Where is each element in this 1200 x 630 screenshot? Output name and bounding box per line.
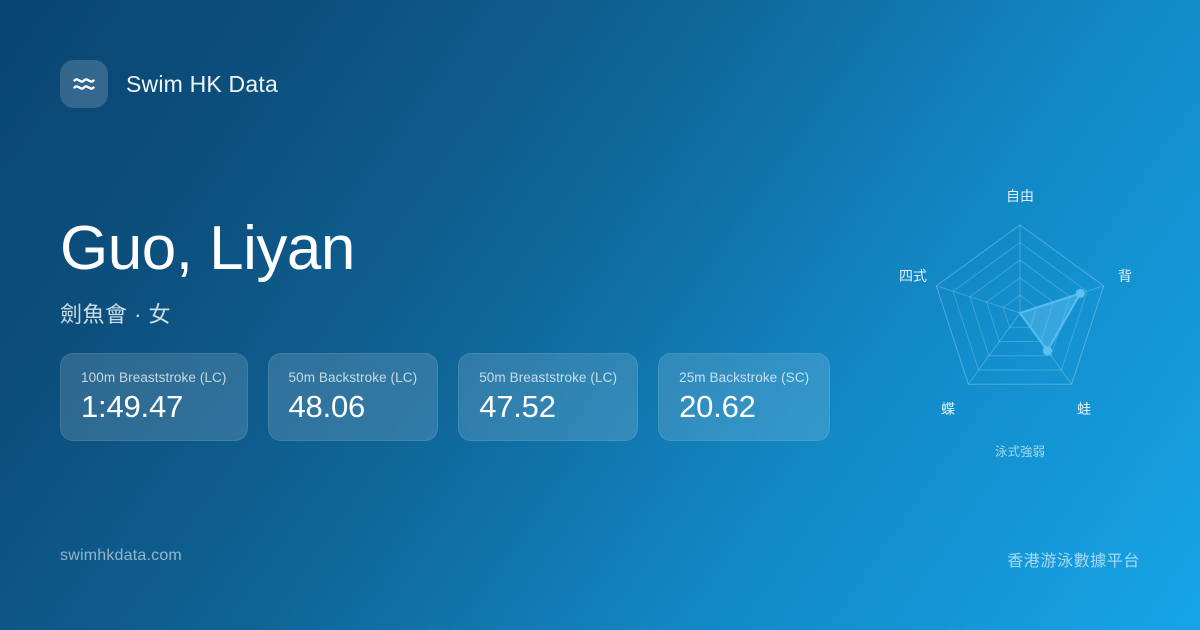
radar-spoke [936, 286, 1020, 313]
stat-card-list: 100m Breaststroke (LC) 1:49.47 50m Backs… [60, 353, 830, 441]
page-title: Guo, Liyan [60, 216, 355, 281]
radar-label-im: 四式 [899, 268, 927, 284]
radar-chart: 自由 背 蛙 蝶 四式 泳式強弱 [880, 170, 1160, 470]
radar-label-breast: 蛙 [1077, 401, 1091, 417]
stat-card-value: 1:49.47 [81, 390, 227, 423]
radar-caption: 泳式強弱 [995, 445, 1045, 459]
stat-card[interactable]: 50m Backstroke (LC) 48.06 [268, 353, 439, 441]
brand-header[interactable]: Swim HK Data [60, 60, 278, 108]
radar-label-back: 背 [1118, 268, 1132, 284]
footer-site-url[interactable]: swimhkdata.com [60, 547, 182, 565]
radar-label-free: 自由 [1006, 188, 1034, 204]
brand-name: Swim HK Data [126, 71, 278, 98]
stat-card[interactable]: 100m Breaststroke (LC) 1:49.47 [60, 353, 248, 441]
stat-card-label: 25m Backstroke (SC) [679, 370, 809, 385]
stat-card-value: 48.06 [289, 390, 418, 423]
stat-card-value: 20.62 [679, 390, 809, 423]
stat-card-label: 50m Backstroke (LC) [289, 370, 418, 385]
hero-subtitle: 劍魚會 · 女 [60, 297, 355, 329]
stat-card-value: 47.52 [479, 390, 617, 423]
stat-card-label: 50m Breaststroke (LC) [479, 370, 617, 385]
radar-spoke [968, 313, 1020, 384]
radar-grid [936, 225, 1103, 384]
stat-card[interactable]: 25m Backstroke (SC) 20.62 [658, 353, 830, 441]
footer-tagline: 香港游泳數據平台 [1007, 547, 1140, 571]
radar-point-breast [1043, 346, 1052, 355]
wave-icon [60, 60, 108, 108]
stat-card[interactable]: 50m Breaststroke (LC) 47.52 [458, 353, 638, 441]
radar-point-back [1076, 289, 1085, 298]
hero-block: Guo, Liyan 劍魚會 · 女 [60, 216, 355, 329]
radar-label-fly: 蝶 [941, 401, 955, 417]
stat-card-label: 100m Breaststroke (LC) [81, 370, 227, 385]
